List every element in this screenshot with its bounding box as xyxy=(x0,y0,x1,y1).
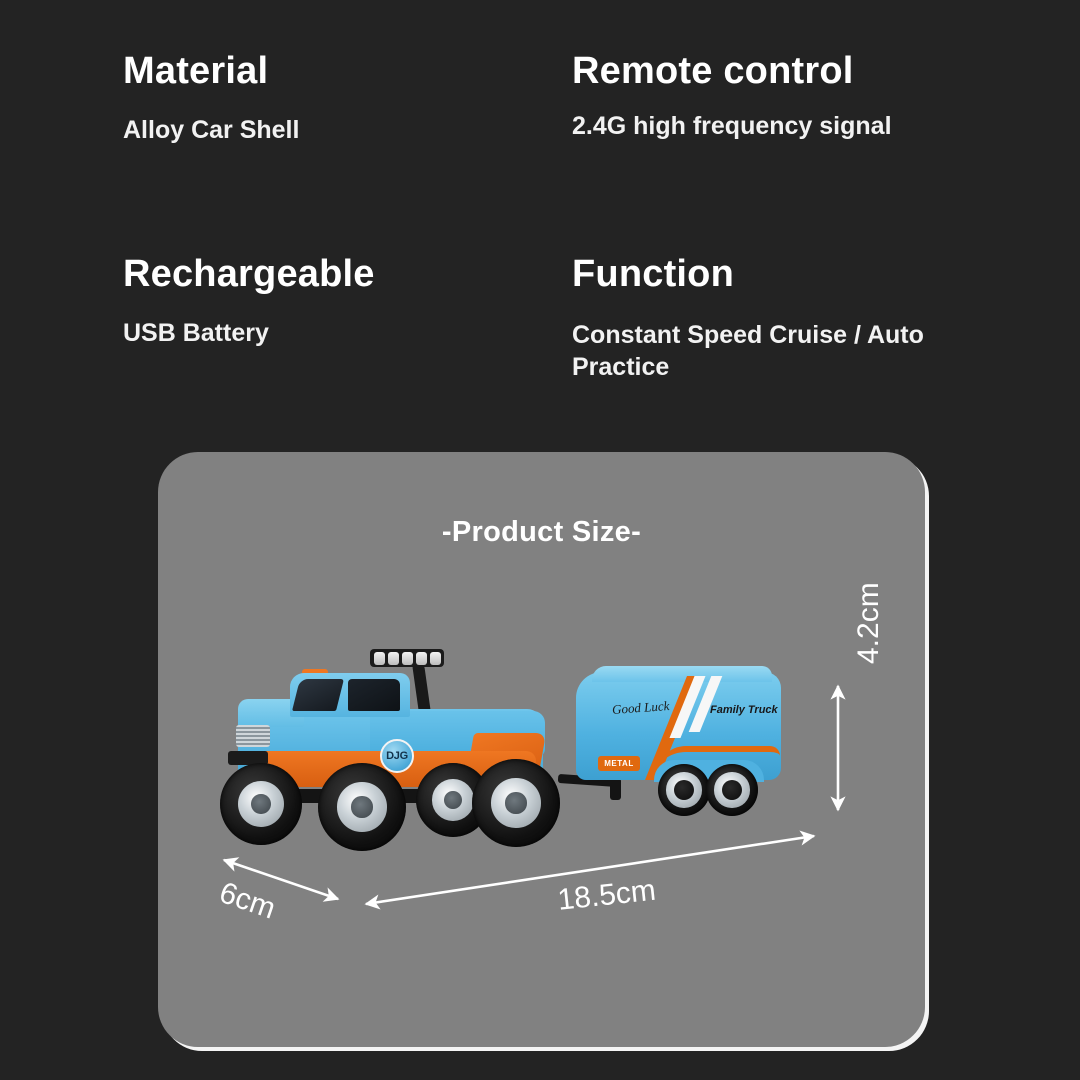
dimension-label-width: 6cm xyxy=(215,876,280,927)
product-infographic: Material Alloy Car Shell Remote control … xyxy=(0,0,1080,1080)
trailer-wheel xyxy=(658,764,710,816)
product-size-panel: -Product Size- DJG xyxy=(158,452,925,1047)
trailer-metal-badge: METAL xyxy=(598,756,640,771)
toy-truck: DJG xyxy=(220,647,565,852)
feature-material-desc: Alloy Car Shell xyxy=(123,114,543,147)
truck-windshield xyxy=(292,679,344,711)
truck-wheel xyxy=(472,759,560,847)
trailer-metal-badge-text: METAL xyxy=(604,759,633,768)
truck-door-badge: DJG xyxy=(380,739,414,773)
dimension-label-height: 4.2cm xyxy=(852,582,886,664)
truck-wheel xyxy=(220,763,302,845)
feature-rechargeable: Rechargeable USB Battery xyxy=(123,255,543,349)
trailer-jack-stand xyxy=(610,778,621,800)
truck-side-window xyxy=(348,679,400,711)
feature-function: Function Constant Speed Cruise / Auto Pr… xyxy=(572,255,1012,384)
roof-lightbar-icon xyxy=(370,649,444,667)
truck-door-badge-text: DJG xyxy=(386,750,408,762)
truck-grille xyxy=(236,725,270,747)
feature-remote-control: Remote control 2.4G high frequency signa… xyxy=(572,52,1002,142)
toy-trailer: Good Luck Family Truck METAL xyxy=(558,664,788,832)
trailer-name-text: Family Truck xyxy=(710,704,778,716)
feature-material-title: Material xyxy=(123,52,543,92)
feature-rechargeable-title: Rechargeable xyxy=(123,255,543,295)
feature-function-title: Function xyxy=(572,255,1012,295)
trailer-wheel xyxy=(706,764,758,816)
feature-material: Material Alloy Car Shell xyxy=(123,52,543,146)
feature-remote-control-title: Remote control xyxy=(572,52,1002,92)
product-photo: DJG Good Luck Family Truck xyxy=(158,452,925,1047)
truck-wheel xyxy=(318,763,406,851)
feature-rechargeable-desc: USB Battery xyxy=(123,317,543,350)
feature-function-desc: Constant Speed Cruise / Auto Practice xyxy=(572,319,1012,384)
dimension-label-length: 18.5cm xyxy=(556,874,657,918)
trailer-roof xyxy=(592,666,772,682)
feature-remote-control-desc: 2.4G high frequency signal xyxy=(572,110,1002,143)
